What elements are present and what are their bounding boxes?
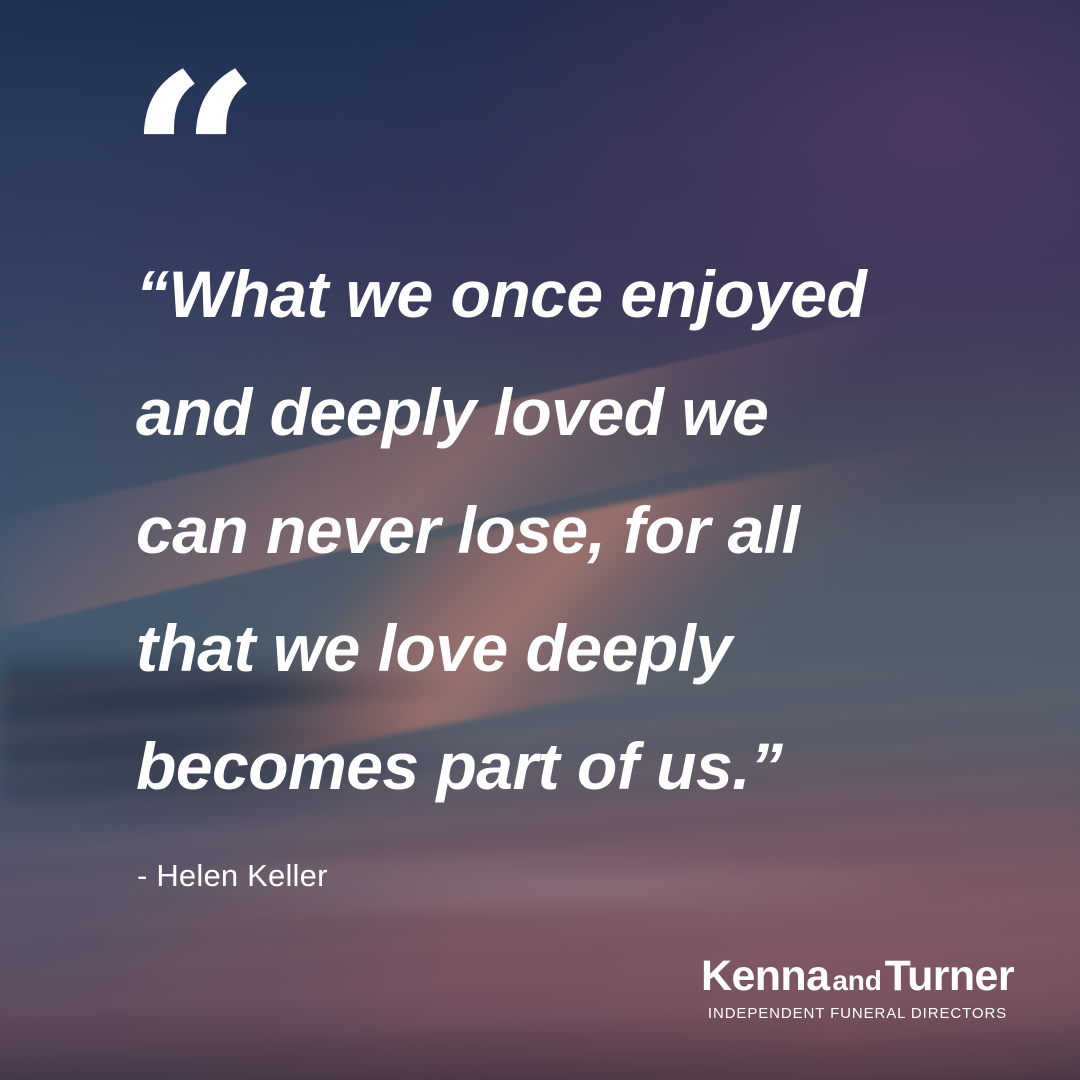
quote-text-block: “What we once enjoyed and deeply loved w… [136,235,1016,825]
brand-logo[interactable]: KennaandTurner INDEPENDENT FUNERAL DIREC… [701,954,1014,1022]
quote-attribution: - Helen Keller [137,858,328,894]
brand-logo-name: KennaandTurner [701,954,1014,1000]
quote-line: “What we once enjoyed [136,235,1016,353]
quote-line: becomes part of us.” [136,707,1016,825]
brand-name-second: Turner [885,952,1014,1000]
brand-name-conjunction: and [829,965,884,996]
brand-logo-tagline: INDEPENDENT FUNERAL DIRECTORS [701,1005,1014,1022]
brand-name-first: Kenna [701,952,829,1000]
quote-line: can never lose, for all [136,471,1016,589]
quote-card: “ “What we once enjoyed and deeply loved… [0,0,1080,1080]
card-content: “ “What we once enjoyed and deeply loved… [0,0,1080,1080]
quote-line: that we love deeply [136,589,1016,707]
quote-line: and deeply loved we [136,353,1016,471]
